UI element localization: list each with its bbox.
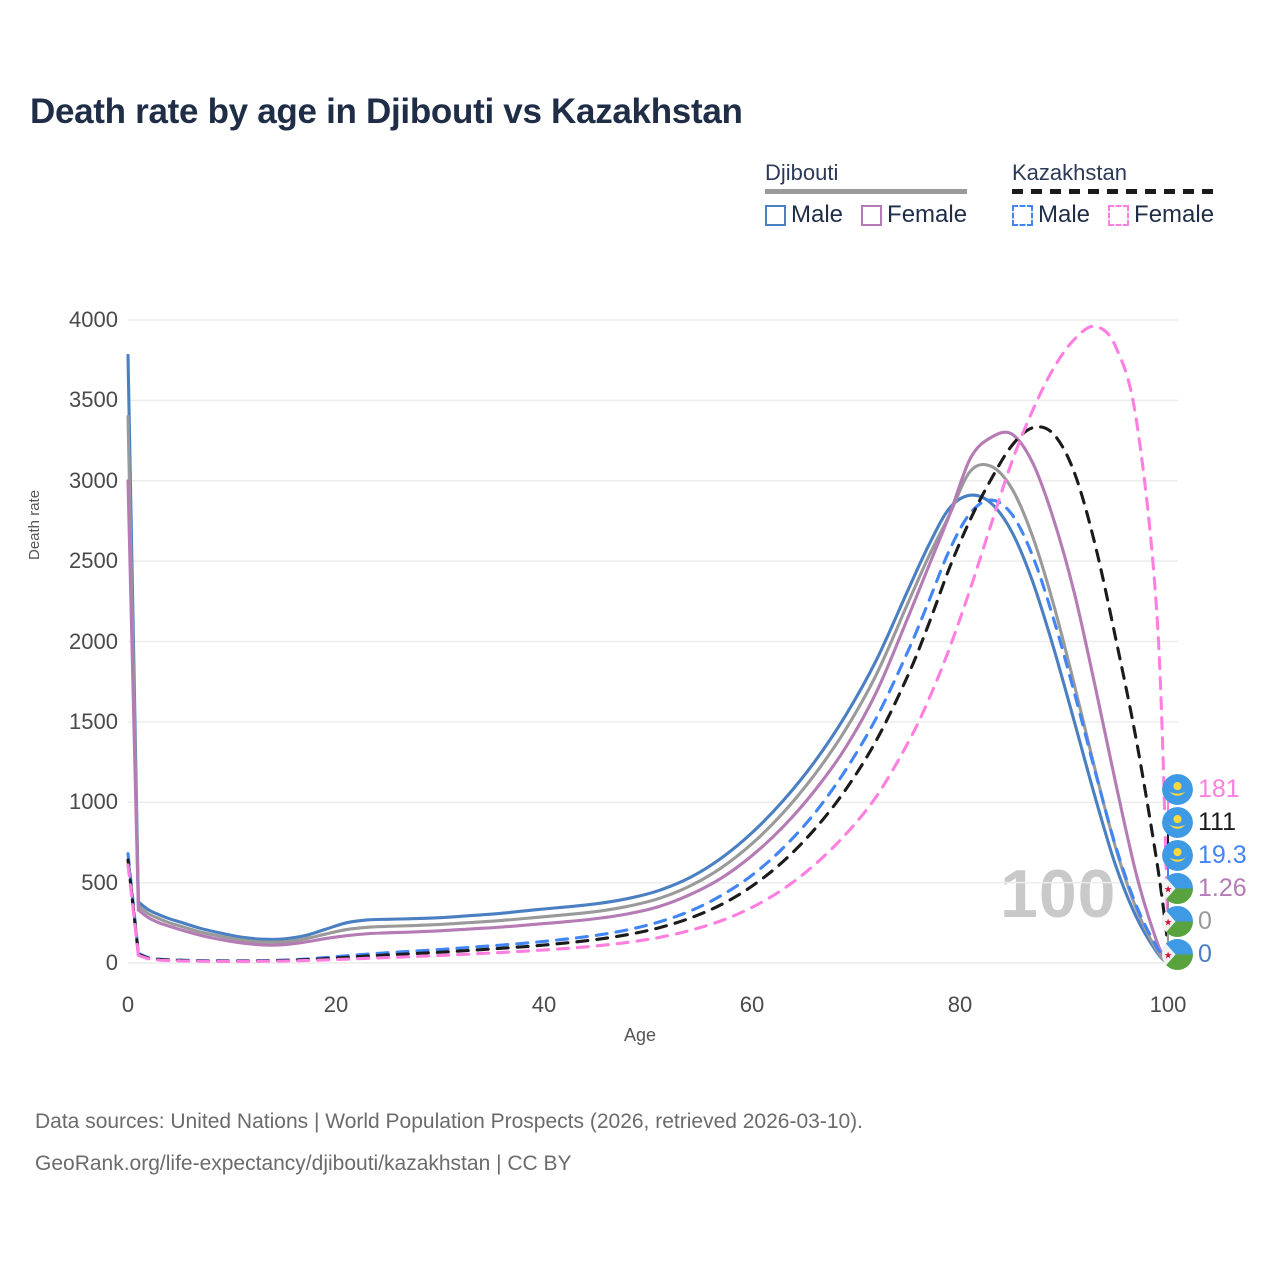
series-end-value: 181 [1198,777,1240,802]
series-end-value: 111 [1198,810,1236,835]
djibouti-flag-icon [1162,939,1193,970]
series-end-label-row: 111 [1162,806,1236,839]
series-line [138,427,1168,961]
series-end-label-row: 0 [1162,905,1212,938]
series-end-labels: 18111119.31.2600 [1162,772,1280,987]
series-line [138,326,1168,961]
series-end-label-row: 19.3 [1162,839,1247,872]
series-end-label-row: 181 [1162,773,1240,806]
footer-line-2: GeoRank.org/life-expectancy/djibouti/kaz… [35,1152,572,1176]
series-end-value: 19.3 [1198,843,1247,868]
kazakhstan-flag-icon [1162,774,1193,805]
series-line [128,481,138,910]
plot-canvas [0,0,1280,1280]
series-line [138,495,1168,963]
djibouti-flag-icon [1162,873,1193,904]
series-end-label-row: 1.26 [1162,872,1247,905]
series-end-value: 1.26 [1198,876,1247,901]
series-end-value: 0 [1198,909,1212,934]
chart-root: Death rate by age in Djibouti vs Kazakhs… [0,0,1280,1280]
series-end-value: 0 [1198,942,1212,967]
series-end-label-row: 0 [1162,938,1212,971]
djibouti-flag-icon [1162,906,1193,937]
footer-line-1: Data sources: United Nations | World Pop… [35,1110,863,1134]
kazakhstan-flag-icon [1162,840,1193,871]
kazakhstan-flag-icon [1162,807,1193,838]
series-line [138,464,1168,963]
